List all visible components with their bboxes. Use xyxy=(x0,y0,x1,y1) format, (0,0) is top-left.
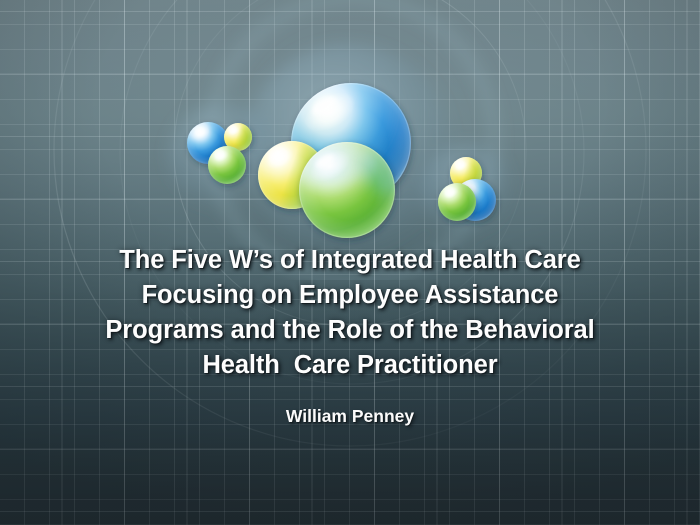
slide-subtitle-author: William Penney xyxy=(40,405,660,427)
slide-text-block: The Five W’s of Integrated Health CareFo… xyxy=(0,243,700,427)
slide-title: The Five W’s of Integrated Health CareFo… xyxy=(40,243,660,383)
bubble-cluster-graphic xyxy=(0,0,700,280)
presentation-slide: The Five W’s of Integrated Health CareFo… xyxy=(0,0,700,525)
